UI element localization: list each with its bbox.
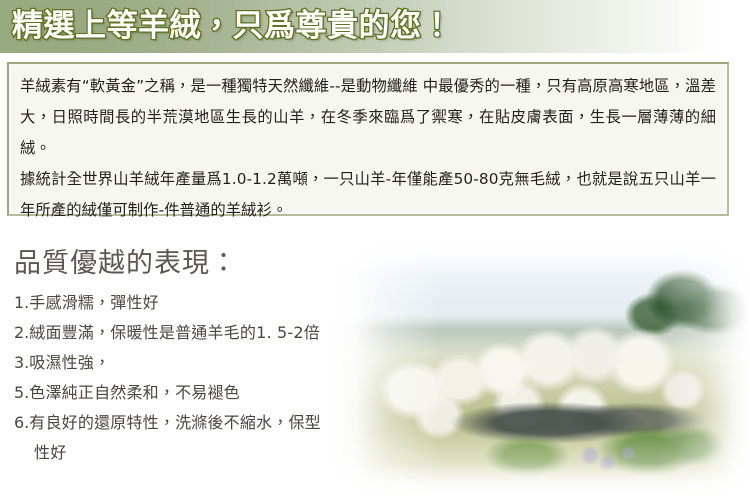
header-banner: 精選上等羊絨，只爲尊貴的您！ xyxy=(0,0,750,53)
list-item-text: 絨面豐滿，保暖性是普通羊毛的1. 5-2倍 xyxy=(29,323,320,342)
list-item: 6.有良好的還原特性，洗滌後不縮水，保型 性好 xyxy=(14,408,420,468)
promo-page: 精選上等羊絨，只爲尊貴的您！ 羊絨素有“軟黃金”之稱，是一種獨特天然纖維--是動… xyxy=(0,0,750,500)
list-item-continuation: 性好 xyxy=(14,438,420,468)
list-item-number: 2. xyxy=(14,323,29,342)
banner-title: 精選上等羊絨，只爲尊貴的您！ xyxy=(12,5,453,47)
lower-section: 品質優越的表現： 1.手感滑糯，彈性好 2.絨面豐滿，保暖性是普通羊毛的1. 5… xyxy=(0,222,750,500)
list-item-text: 吸濕性強， xyxy=(29,353,110,372)
list-item-number: 1. xyxy=(14,293,29,312)
features-block: 品質優越的表現： 1.手感滑糯，彈性好 2.絨面豐滿，保暖性是普通羊毛的1. 5… xyxy=(0,222,420,468)
list-item: 1.手感滑糯，彈性好 xyxy=(14,288,420,318)
list-item-text: 手感滑糯，彈性好 xyxy=(29,293,159,312)
intro-paragraph-2: 據統計全世界山羊絨年產量爲1.0-1.2萬噸，一只山羊-年僅能產50-80克無毛… xyxy=(20,164,716,226)
list-item: 2.絨面豐滿，保暖性是普通羊毛的1. 5-2倍 xyxy=(14,318,420,348)
list-item-text: 色澤純正自然柔和，不易褪色 xyxy=(29,383,240,402)
list-item-number: 5. xyxy=(14,383,29,402)
intro-paragraph-1: 羊絨素有“軟黃金”之稱，是一種獨特天然纖維--是動物纖維 中最優秀的一種，只有高… xyxy=(20,71,716,164)
list-item-text: 有良好的還原特性，洗滌後不縮水，保型 xyxy=(29,413,321,432)
features-list: 1.手感滑糯，彈性好 2.絨面豐滿，保暖性是普通羊毛的1. 5-2倍 3.吸濕性… xyxy=(0,286,420,468)
features-title: 品質優越的表現： xyxy=(0,222,420,286)
list-item-number: 3. xyxy=(14,353,29,372)
list-item-number: 6. xyxy=(14,413,29,432)
list-item: 5.色澤純正自然柔和，不易褪色 xyxy=(14,378,420,408)
list-item: 3.吸濕性強， xyxy=(14,348,420,378)
intro-text-box: 羊絨素有“軟黃金”之稱，是一種獨特天然纖維--是動物纖維 中最優秀的一種，只有高… xyxy=(7,62,729,216)
